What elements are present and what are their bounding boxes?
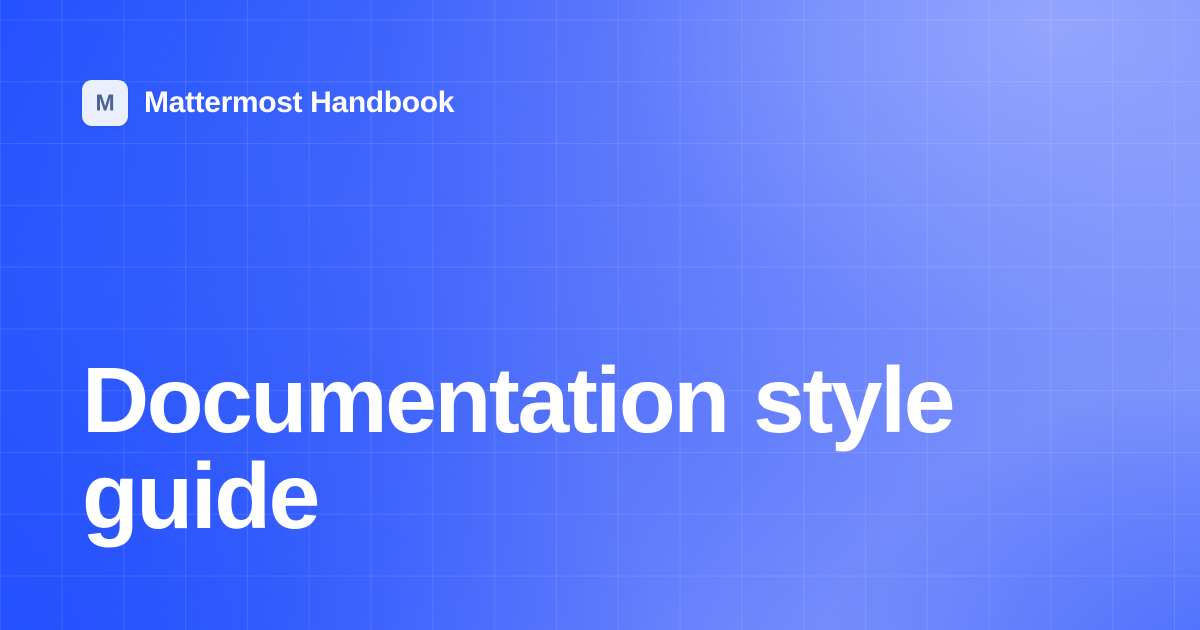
mattermost-logo-icon: M	[82, 80, 128, 126]
brand-title: Mattermost Handbook	[144, 88, 454, 118]
page-title: Documentation style guide	[82, 352, 1092, 544]
banner-card: M Mattermost Handbook Documentation styl…	[0, 0, 1200, 630]
logo-letter: M	[96, 91, 115, 114]
hero-section: Documentation style guide	[82, 352, 1092, 544]
brand-header: M Mattermost Handbook	[82, 80, 454, 126]
